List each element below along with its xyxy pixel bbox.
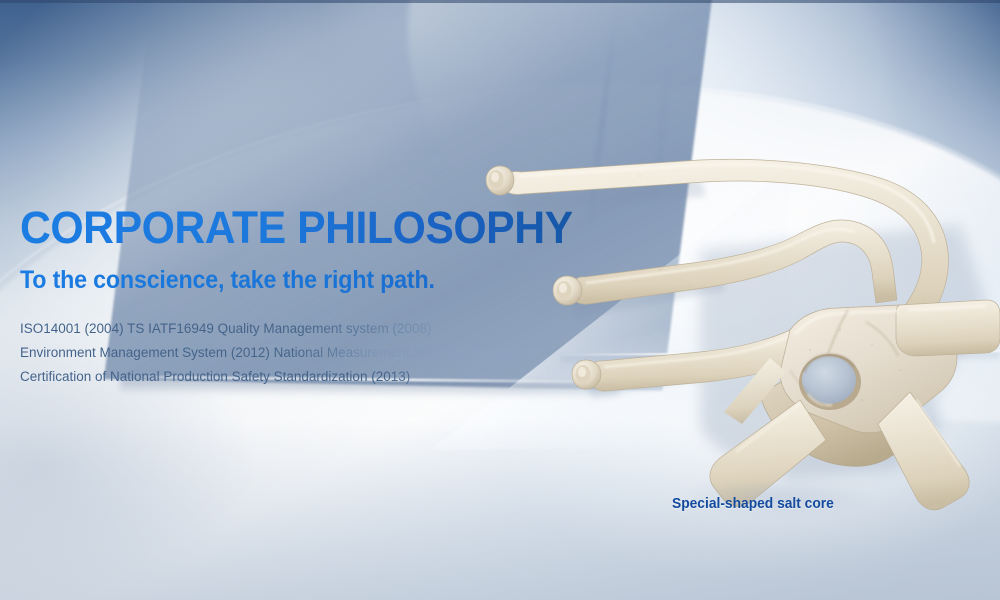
core-center-hole <box>799 354 861 410</box>
headline-group: CORPORATE PHILOSOPHY To the conscience, … <box>20 205 640 389</box>
certification-line: Certification of National Production Saf… <box>20 365 640 389</box>
core-tip-upper <box>486 166 514 195</box>
page-title: CORPORATE PHILOSOPHY <box>20 205 609 250</box>
certification-line: ISO14001 (2004) TS IATF16949 Quality Man… <box>20 317 640 341</box>
page-subtitle: To the conscience, take the right path. <box>20 266 597 295</box>
product-caption: Special-shaped salt core <box>672 495 834 512</box>
certification-line: Environment Management System (2012) Nat… <box>20 341 640 365</box>
certification-list: ISO14001 (2004) TS IATF16949 Quality Man… <box>20 317 640 389</box>
corporate-philosophy-banner: CORPORATE PHILOSOPHY To the conscience, … <box>0 0 1000 600</box>
